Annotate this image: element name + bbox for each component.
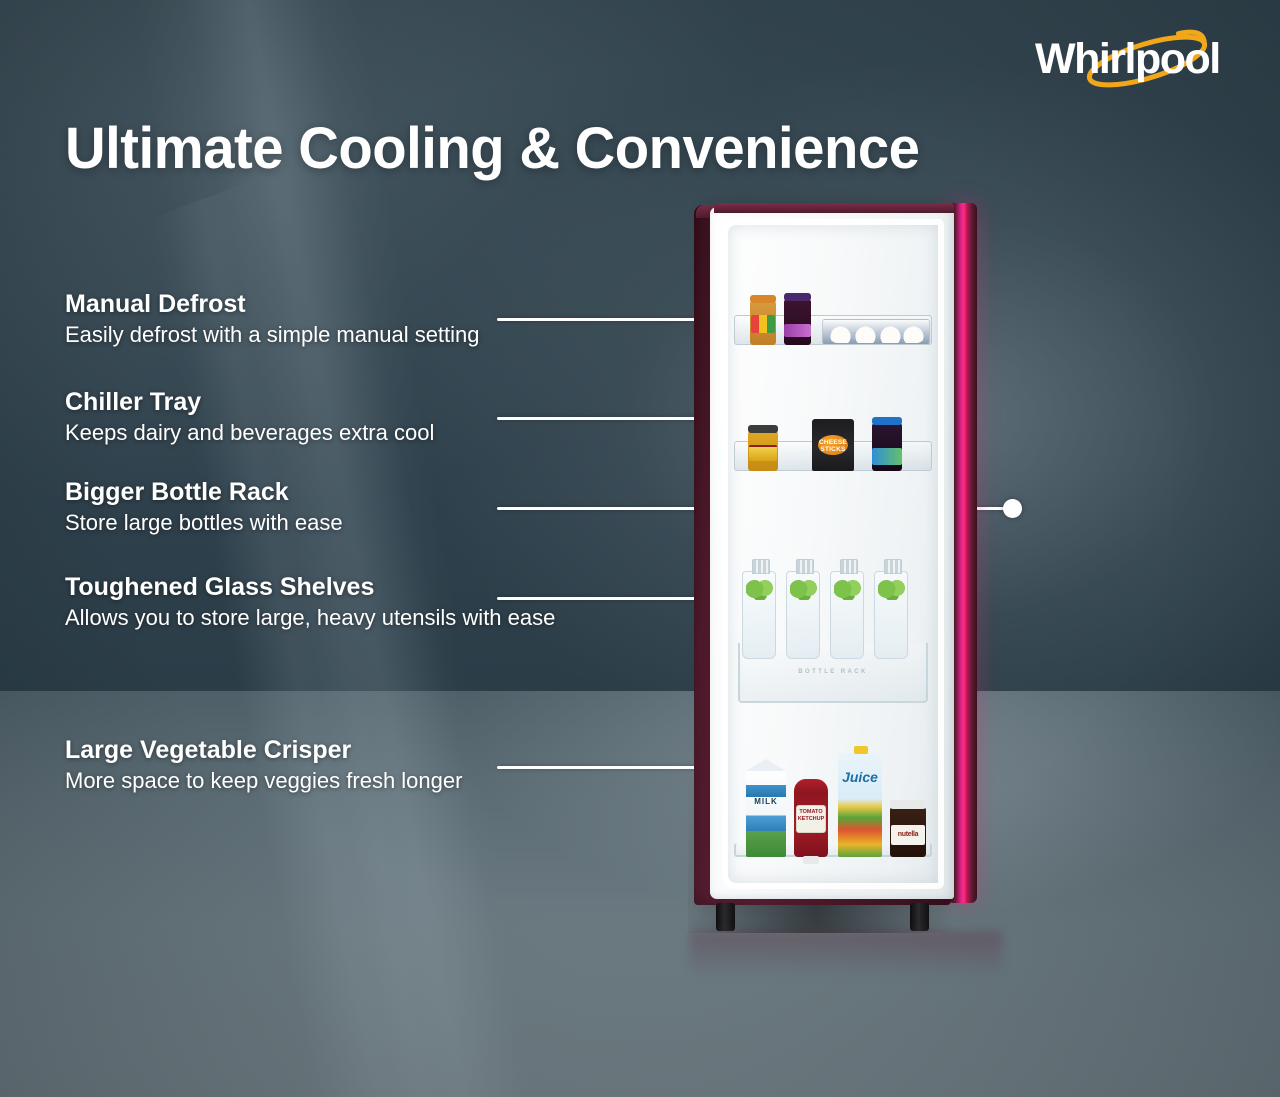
refrigerator-door[interactable]: CHEESE STICKS BOTTLE RACK MILK TOMATO KE… [950, 203, 994, 905]
feature-description: More space to keep veggies fresh longer [65, 767, 462, 796]
door-shelf-bottom-items: MILK TOMATO KETCHUP Juice nutella [734, 843, 932, 857]
svg-text:Whirlpool: Whirlpool [1035, 35, 1220, 83]
door-shelf-top-items [734, 315, 932, 345]
egg-tray [822, 319, 930, 345]
feature-bigger-bottle-rack: Bigger Bottle Rack Store large bottles w… [65, 478, 343, 538]
carton-band [746, 785, 786, 797]
door-shelf-second-items: CHEESE STICKS [734, 441, 932, 471]
door-top-lip [714, 203, 954, 213]
feature-title: Toughened Glass Shelves [65, 573, 555, 601]
spread-label: nutella [891, 825, 925, 845]
jar-cap [750, 295, 776, 303]
feature-description: Allows you to store large, heavy utensil… [65, 604, 555, 633]
refrigerator-product-image: FAST ICE SUMMER FLAVOUR SUMMER FLAVOUR Q… [694, 205, 994, 920]
jar-cap [748, 425, 778, 433]
water-bottle [786, 571, 820, 659]
snack-label: CHEESE STICKS [812, 439, 854, 453]
feature-title: Bigger Bottle Rack [65, 478, 343, 506]
jar-label [749, 445, 777, 461]
door-outer-edge [950, 203, 977, 903]
jar-label [872, 448, 902, 465]
feature-manual-defrost: Manual Defrost Easily defrost with a sim… [65, 290, 480, 350]
peanut-butter-jar [750, 301, 776, 345]
feature-description: Store large bottles with ease [65, 509, 343, 538]
jam-jar [784, 299, 811, 345]
whirlpool-logo: Whirlpool [1035, 28, 1240, 90]
bottle-rack-label: BOTTLE RACK [798, 669, 867, 675]
water-bottle [742, 571, 776, 659]
feature-title: Manual Defrost [65, 290, 480, 318]
mustard-jar [748, 431, 778, 471]
jar-cap [784, 293, 811, 301]
feature-chiller-tray: Chiller Tray Keeps dairy and beverages e… [65, 388, 434, 448]
jar-cap [872, 417, 902, 425]
juice-label: Juice [838, 769, 882, 785]
cheese-sticks-snack: CHEESE STICKS [812, 419, 854, 471]
page-title: Ultimate Cooling & Convenience [65, 115, 919, 182]
refrigerator-foot [716, 903, 735, 931]
feature-description: Easily defrost with a simple manual sett… [65, 321, 480, 350]
milk-label: MILK [746, 797, 786, 806]
refrigerator-foot [910, 903, 929, 931]
ketchup-bottle: TOMATO KETCHUP [794, 779, 828, 857]
ketchup-label: TOMATO KETCHUP [796, 805, 826, 833]
blue-cap-jar [872, 423, 902, 471]
jar-label [751, 315, 775, 333]
jar-label [784, 324, 811, 337]
milk-carton: MILK [746, 771, 786, 857]
feature-large-vegetable-crisper: Large Vegetable Crisper More space to ke… [65, 736, 462, 796]
feature-description: Keeps dairy and beverages extra cool [65, 419, 434, 448]
jar-cap [890, 800, 926, 809]
feature-toughened-glass-shelves: Toughened Glass Shelves Allows you to st… [65, 573, 555, 633]
feature-title: Large Vegetable Crisper [65, 736, 462, 764]
feature-title: Chiller Tray [65, 388, 434, 416]
juice-carton: Juice [838, 753, 882, 857]
water-bottle [874, 571, 908, 659]
chocolate-spread-jar: nutella [890, 807, 926, 857]
water-bottle [830, 571, 864, 659]
floor-reflection [690, 931, 1002, 991]
